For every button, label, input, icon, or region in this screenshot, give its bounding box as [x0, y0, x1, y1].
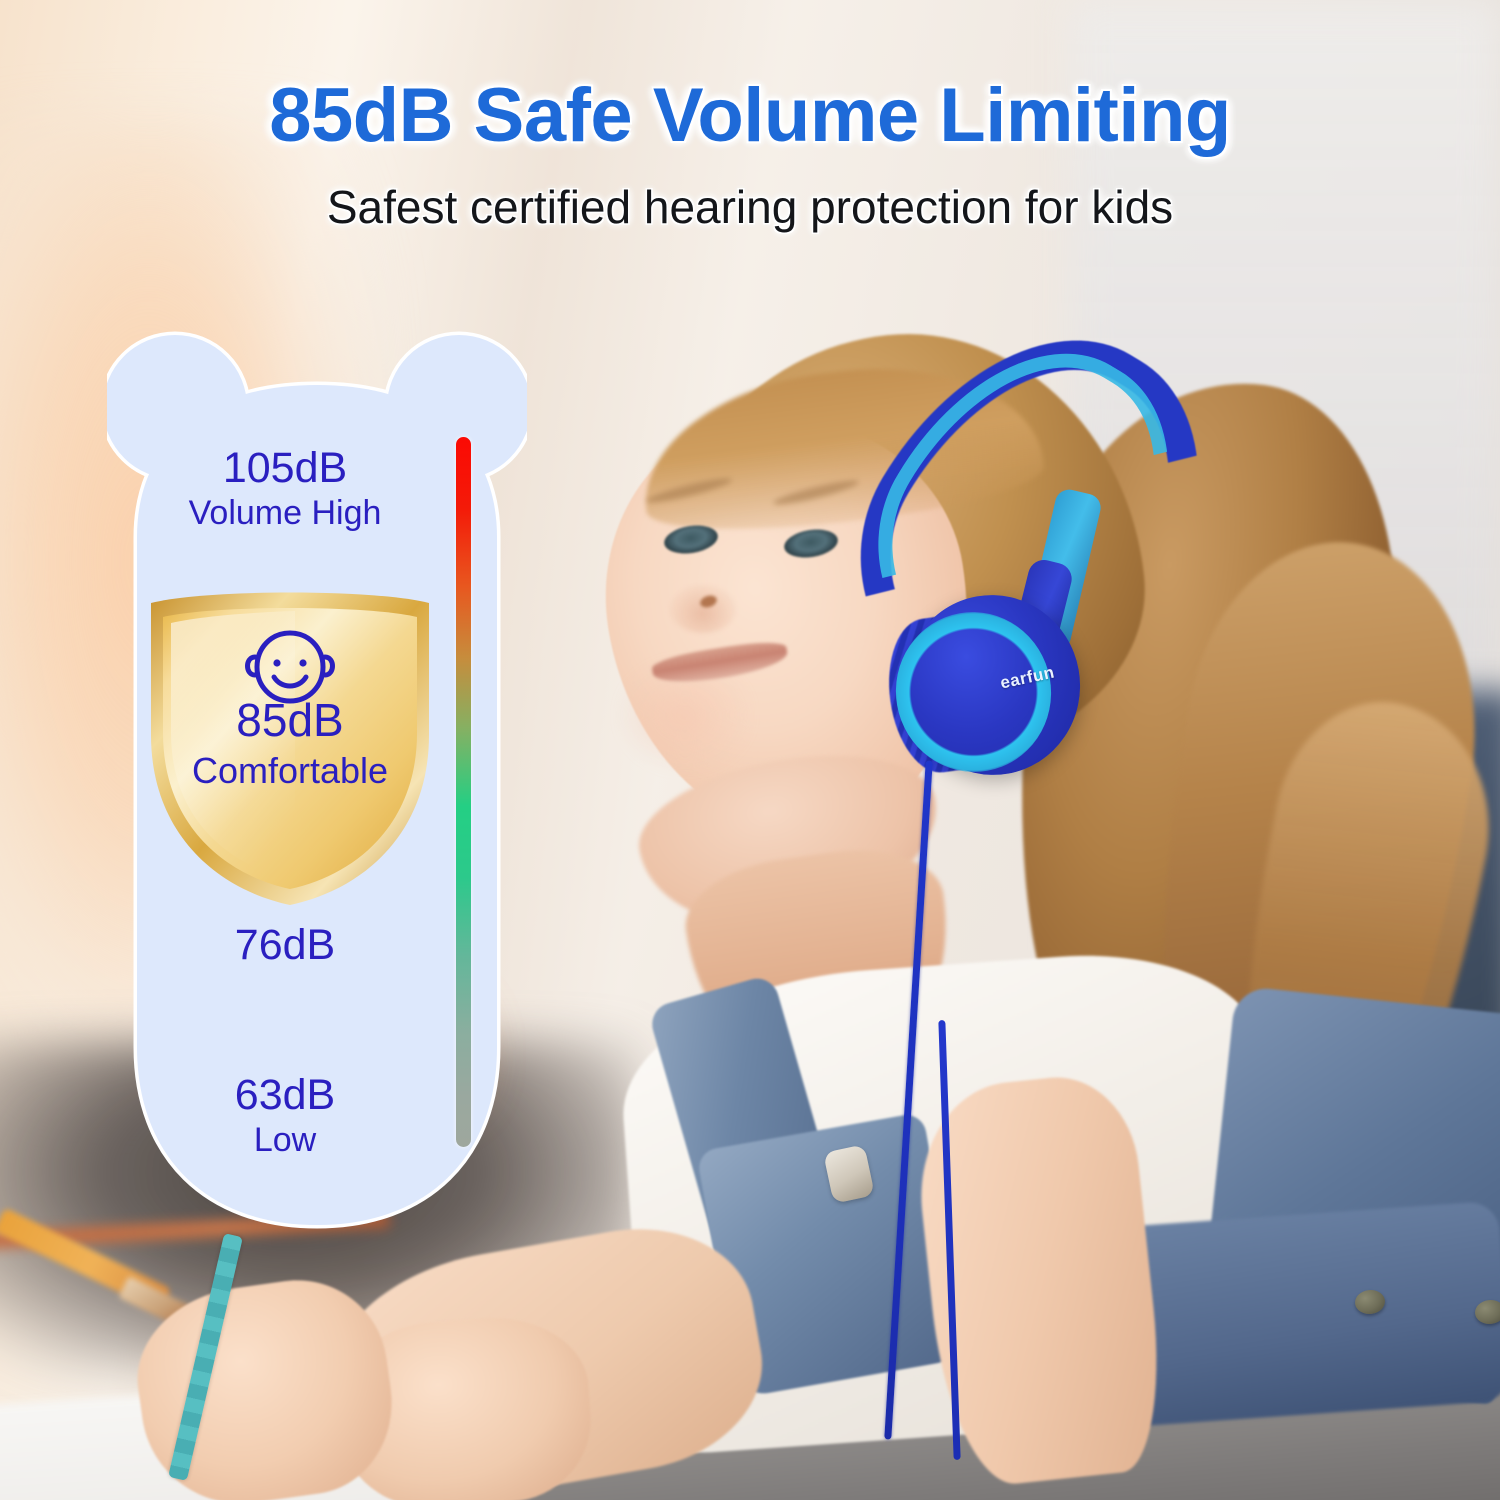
- page-title: 85dB Safe Volume Limiting: [0, 72, 1500, 159]
- level-high: 105dB Volume High: [107, 445, 463, 532]
- hand-left: [126, 1269, 403, 1500]
- level-low-value: 63dB: [107, 1072, 463, 1118]
- level-low: 63dB Low: [107, 1072, 463, 1159]
- level-high-value: 105dB: [107, 445, 463, 491]
- shield-value: 85dB: [145, 693, 435, 747]
- volume-gradient-meter: [456, 437, 471, 1147]
- level-mid: 76dB: [107, 922, 463, 968]
- shield-label: Comfortable: [145, 750, 435, 792]
- shield-label-group: 85dB Comfortable: [145, 585, 435, 905]
- nose: [670, 585, 736, 633]
- level-low-label: Low: [107, 1122, 463, 1159]
- level-high-label: Volume High: [107, 495, 463, 532]
- product-marketing-image: earfun 85dB Safe Volume Limiting Safest …: [0, 0, 1500, 1500]
- page-subtitle: Safest certified hearing protection for …: [0, 180, 1500, 234]
- level-mid-value: 76dB: [107, 922, 463, 968]
